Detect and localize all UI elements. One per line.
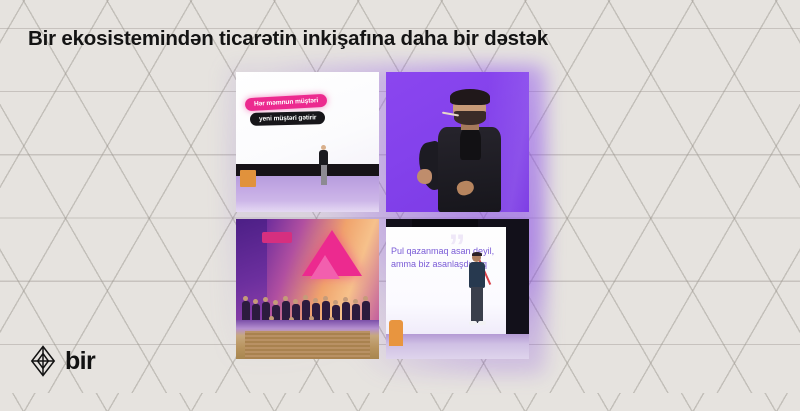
collage-tile-slide-banners[interactable]: Hər məmnun müştəri yeni müştəri gətirir (236, 72, 379, 212)
floor-sheen (236, 201, 379, 212)
stage-floor (386, 334, 529, 359)
podium (240, 170, 256, 187)
orange-chair (389, 320, 403, 346)
wooden-floor-planks (245, 331, 371, 359)
slide-banner-black: yeni müştəri gətirir (250, 111, 326, 126)
collage-grid: Hər məmnun müştəri yeni müştəri gətirir (236, 72, 536, 366)
collage-tile-group-photo[interactable] (236, 219, 379, 359)
speaker-figure (432, 92, 515, 212)
speaker-left-hand (417, 169, 432, 185)
event-brand-badge (262, 232, 292, 243)
page-title: Bir ekosistemindən ticarətin inkişafına … (28, 27, 548, 51)
slide-quote-text: Pul qazanmaq asan deyil, amma biz asanla… (391, 245, 509, 270)
speaker-torso (319, 150, 328, 166)
speaker-shoe-left (469, 321, 477, 325)
speaker-legs (471, 287, 483, 323)
collage-tile-speaker-purple[interactable] (386, 72, 529, 212)
logo-wordmark: bir (65, 349, 95, 374)
speaker-hair (450, 89, 490, 105)
stage-floor (236, 176, 379, 212)
speaker-hair (472, 252, 482, 257)
collage-tile-quote-slide[interactable]: ” Pul qazanmaq asan deyil, amma biz asan… (386, 219, 529, 359)
triangle-logo-inner (310, 255, 340, 279)
speaker-torso (469, 262, 485, 288)
stage-speaker-figure (319, 145, 329, 187)
speaker-legs (321, 165, 327, 185)
speaker-shirt (460, 127, 481, 161)
speaker-shoe-right (478, 321, 486, 325)
speaker-beard (454, 111, 486, 125)
diamond-lattice-icon (30, 345, 56, 377)
stage-dark-band (236, 164, 379, 175)
bir-logo[interactable]: bir (30, 345, 95, 377)
event-photo-collage: Hər məmnun müştəri yeni müştəri gətirir (236, 72, 536, 366)
